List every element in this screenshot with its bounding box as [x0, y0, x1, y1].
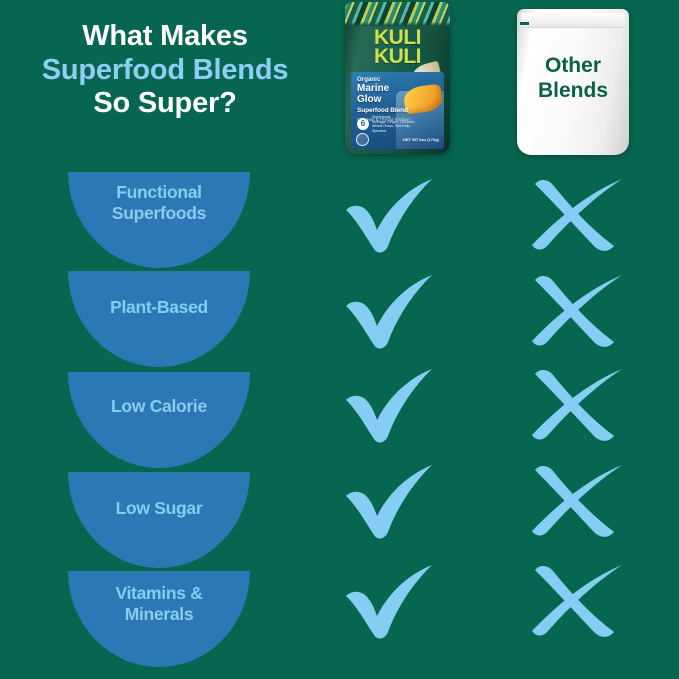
- check-icon: [344, 462, 440, 542]
- pouch-body: KULI KULI Organic Marine Glow Superfood …: [345, 2, 450, 154]
- check-icon: [344, 272, 440, 352]
- product-subtitle: Superfood Blend: [357, 107, 415, 114]
- superfood-count-number: 6: [357, 118, 369, 130]
- headline-line-3: So Super?: [0, 87, 330, 121]
- check-icon: [344, 562, 440, 642]
- feature-label-line-1: Functional: [75, 182, 243, 203]
- page-title: What Makes Superfood Blends So Super?: [0, 20, 330, 121]
- competitor-label-line-2: Blends: [517, 79, 629, 104]
- feature-label-line-1: Plant-Based: [75, 297, 243, 318]
- cross-icon: [530, 272, 626, 352]
- cross-icon: [530, 176, 626, 256]
- feature-label-line-1: Low Calorie: [75, 396, 243, 417]
- competitor-pouch-body: Other Blends: [517, 9, 629, 155]
- net-weight-label: NET WT 6oz (170g): [403, 137, 439, 142]
- product-name-line-2: Glow: [357, 95, 415, 105]
- feature-label: Functional Superfoods: [75, 182, 243, 223]
- feature-label-line-2: Minerals: [75, 604, 243, 625]
- check-icon: [344, 366, 440, 446]
- superfood-count-detail: Superfoods Moringa, Ginger, Chlorella, W…: [372, 115, 416, 133]
- feature-label: Low Sugar: [75, 498, 243, 519]
- feature-dome-plant-based: Plant-Based: [68, 271, 250, 367]
- pouch-front-panel: Organic Marine Glow Superfood Blend Skin…: [351, 72, 444, 149]
- superfood-count-badge: 6 Superfoods Moringa, Ginger, Chlorella,…: [357, 115, 416, 133]
- competitor-label-line-1: Other: [517, 54, 629, 79]
- headline-line-2: Superfood Blends: [0, 54, 330, 88]
- feature-label: Vitamins & Minerals: [75, 583, 243, 624]
- competitor-pouch-seal: [521, 13, 625, 28]
- feature-label-line-2: Superfoods: [75, 203, 243, 224]
- feature-dome-low-sugar: Low Sugar: [68, 472, 250, 568]
- cross-icon: [530, 462, 626, 542]
- feature-label: Low Calorie: [75, 396, 243, 417]
- feature-label: Plant-Based: [75, 297, 243, 318]
- competitor-pouch-tear-notch: [520, 22, 529, 25]
- comparison-infographic: What Makes Superfood Blends So Super? KU…: [0, 0, 679, 679]
- feature-label-line-1: Low Sugar: [75, 498, 243, 519]
- product-name-line-1: Marine: [357, 84, 415, 94]
- superfood-ingredient-list: Moringa, Ginger, Chlorella, Wheat Grass,…: [372, 120, 416, 133]
- pouch-bottom-row: NET WT 6oz (170g): [356, 133, 439, 146]
- product-pouch-kuli-kuli: KULI KULI Organic Marine Glow Superfood …: [345, 2, 450, 154]
- usda-organic-seal-icon: [356, 133, 369, 146]
- cross-icon: [530, 366, 626, 446]
- feature-dome-vitamins-minerals: Vitamins & Minerals: [68, 571, 250, 667]
- competitor-pouch-other-blends: Other Blends: [517, 9, 629, 155]
- check-icon: [344, 176, 440, 256]
- feature-dome-low-calorie: Low Calorie: [68, 372, 250, 468]
- headline-line-1: What Makes: [0, 20, 330, 54]
- feature-dome-functional-superfoods: Functional Superfoods: [68, 172, 250, 268]
- feature-label-line-1: Vitamins &: [75, 583, 243, 604]
- pouch-top-pattern: [345, 2, 450, 26]
- competitor-pouch-label: Other Blends: [517, 54, 629, 104]
- cross-icon: [530, 562, 626, 642]
